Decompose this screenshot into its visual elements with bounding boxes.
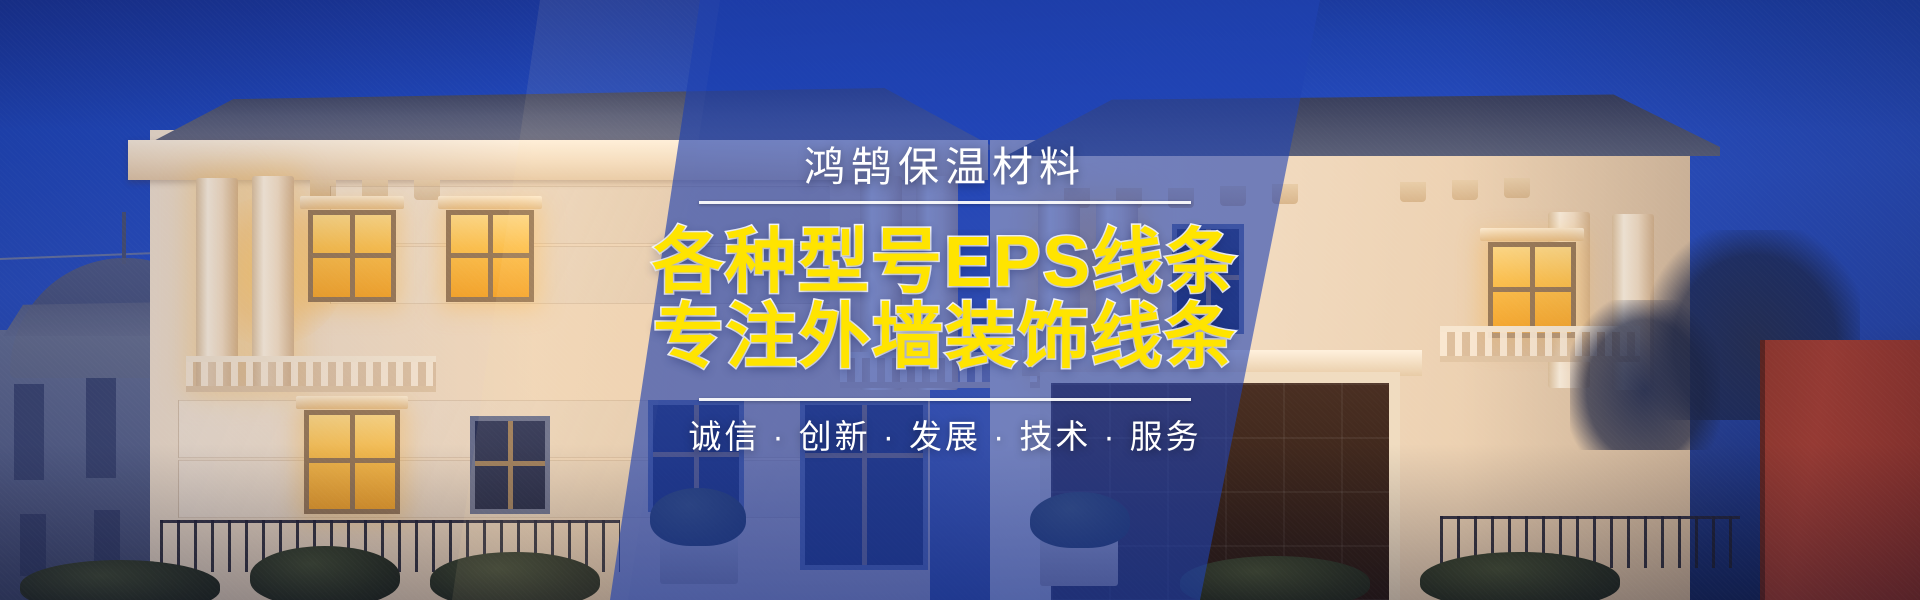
headline-line-1: 各种型号EPS线条 bbox=[652, 225, 1238, 300]
company-name: 鸿鹄保温材料 bbox=[804, 147, 1086, 188]
divider-top bbox=[699, 201, 1191, 204]
headline: 各种型号EPS线条 专注外墙装饰线条 bbox=[652, 225, 1238, 376]
headline-line-2: 专注外墙装饰线条 bbox=[652, 300, 1238, 375]
banner-content: 鸿鹄保温材料 各种型号EPS线条 专注外墙装饰线条 诚信 · 创新 · 发展 ·… bbox=[0, 0, 1905, 600]
divider-bottom bbox=[699, 398, 1191, 401]
tagline: 诚信 · 创新 · 发展 · 技术 · 服务 bbox=[688, 420, 1201, 453]
promo-banner: 鸿鹄保温材料 各种型号EPS线条 专注外墙装饰线条 诚信 · 创新 · 发展 ·… bbox=[0, 0, 1920, 600]
